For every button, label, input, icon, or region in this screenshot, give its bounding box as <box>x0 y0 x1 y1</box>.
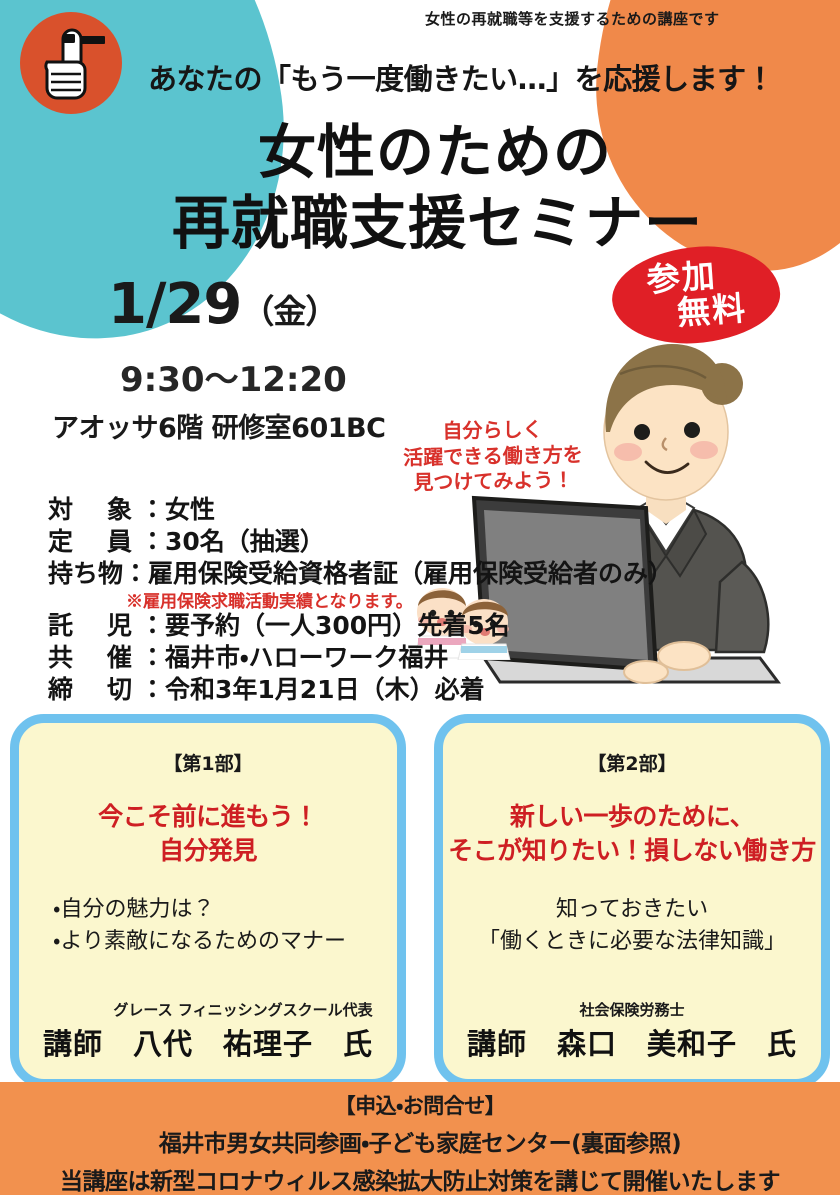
footer-line1: 【申込・お問合せ】 <box>0 1090 840 1120</box>
event-day-of-week: （金） <box>241 292 337 331</box>
detail-value-childcare-limit: 先着5名 <box>417 610 509 642</box>
poster-canvas: 女性の再就職等を支援するための講座です あなたの「もう一度働きたい…」を応援しま… <box>0 0 840 1195</box>
panel1-lecturer: 講師 八代 祐理子 氏 <box>19 1021 397 1063</box>
lead-text: あなたの「もう一度働きたい…」を応援します！ <box>148 56 774 98</box>
detail-value-capacity: ：30名（抽選） <box>140 526 325 558</box>
event-date: 1/29（金） <box>108 272 337 337</box>
panel1-title: 今こそ前に進もう！ 自分発見 <box>19 800 397 868</box>
panel2-title-line1: 新しい一歩のために、 <box>443 800 821 834</box>
panel2-heading: 【第2部】 <box>443 749 821 776</box>
detail-row-capacity: 定 員 ：30名（抽選） <box>48 526 518 558</box>
kicker-text: 女性の再就職等を支援するための講座です <box>425 8 720 29</box>
detail-label-childcare: 託 児 <box>48 610 140 642</box>
detail-row-bring: 持ち物 ：雇用保険受給資格者証 （雇用保険受給者のみ） <box>48 558 518 590</box>
contact-footer: 【申込・お問合せ】 福井市男女共同参画・子ども家庭センター(裏面参照) 当講座は… <box>0 1082 840 1195</box>
detail-label-target: 対 象 <box>48 494 140 526</box>
event-details-list: 対 象 ：女性 定 員 ：30名（抽選） 持ち物 ：雇用保険受給資格者証 （雇用… <box>48 494 518 706</box>
woman-with-laptop-illustration <box>470 320 840 720</box>
detail-row-cohost: 共 催 ：福井市・ハローワーク福井 <box>48 642 518 674</box>
detail-label-bring: 持ち物 <box>48 558 123 590</box>
panel2-title-line2: そこが知りたい！損しない働き方 <box>443 834 821 868</box>
panel1-body-line2: ・より素敵になるためのマナー <box>53 926 397 958</box>
panel1-body: ・自分の魅力は？ ・より素敵になるためのマナー <box>19 894 397 957</box>
panel1-affiliation: グレース フィニッシングスクール代表 <box>19 999 397 1020</box>
panel2-body-line2: 「働くときに必要な法律知識」 <box>443 926 821 958</box>
detail-value-deadline: ：令和3年1月21日（木）必着 <box>140 674 485 706</box>
panel2-lecturer: 講師 森口 美和子 氏 <box>443 1021 821 1063</box>
detail-row-deadline: 締 切 ：令和3年1月21日（木）必着 <box>48 674 518 706</box>
panel1-title-line2: 自分発見 <box>19 834 397 868</box>
panel1-title-line1: 今こそ前に進もう！ <box>19 800 397 834</box>
panel2-affiliation: 社会保険労務士 <box>443 999 821 1020</box>
detail-label-deadline: 締 切 <box>48 674 140 706</box>
detail-row-target: 対 象 ：女性 <box>48 494 518 526</box>
event-date-number: 1/29 <box>108 272 241 337</box>
hello-work-logo <box>20 12 122 114</box>
detail-value-bring: ：雇用保険受給資格者証 <box>123 558 398 590</box>
session-panel-part1: 【第1部】 今こそ前に進もう！ 自分発見 ・自分の魅力は？ ・より素敵になるため… <box>10 714 406 1088</box>
panel1-heading: 【第1部】 <box>19 749 397 776</box>
detail-value-cohost: ：福井市・ハローワーク福井 <box>140 642 449 674</box>
panel1-footer: グレース フィニッシングスクール代表 講師 八代 祐理子 氏 <box>19 999 397 1063</box>
session-panel-part2: 【第2部】 新しい一歩のために、 そこが知りたい！損しない働き方 知っておきたい… <box>434 714 830 1088</box>
detail-value-bring-note: （雇用保険受給者のみ） <box>398 558 673 590</box>
panel2-body-line1: 知っておきたい <box>443 894 821 926</box>
page-title-line2: 再就職支援セミナー <box>172 176 703 260</box>
detail-value-childcare: ：要予約（一人300円） <box>140 610 417 642</box>
event-venue: アオッサ6階 研修室601BC <box>52 406 385 445</box>
footer-line2: 福井市男女共同参画・子ども家庭センター(裏面参照) <box>0 1124 840 1158</box>
panel2-footer: 社会保険労務士 講師 森口 美和子 氏 <box>443 999 821 1063</box>
detail-row-childcare: 託 児 ：要予約（一人300円） 先着5名 <box>48 610 518 642</box>
footer-line3: 当講座は新型コロナウィルス感染拡大防止対策を講じて開催いたします <box>0 1162 840 1195</box>
panel1-body-line1: ・自分の魅力は？ <box>53 894 397 926</box>
detail-note-red: ※雇用保険求職活動実績となります。 <box>126 587 518 612</box>
event-time: 9:30～12:20 <box>120 352 347 401</box>
detail-value-target: ：女性 <box>140 494 215 526</box>
detail-label-capacity: 定 員 <box>48 526 140 558</box>
panel2-body: 知っておきたい 「働くときに必要な法律知識」 <box>443 894 821 957</box>
detail-label-cohost: 共 催 <box>48 642 140 674</box>
panel2-title: 新しい一歩のために、 そこが知りたい！損しない働き方 <box>443 800 821 868</box>
